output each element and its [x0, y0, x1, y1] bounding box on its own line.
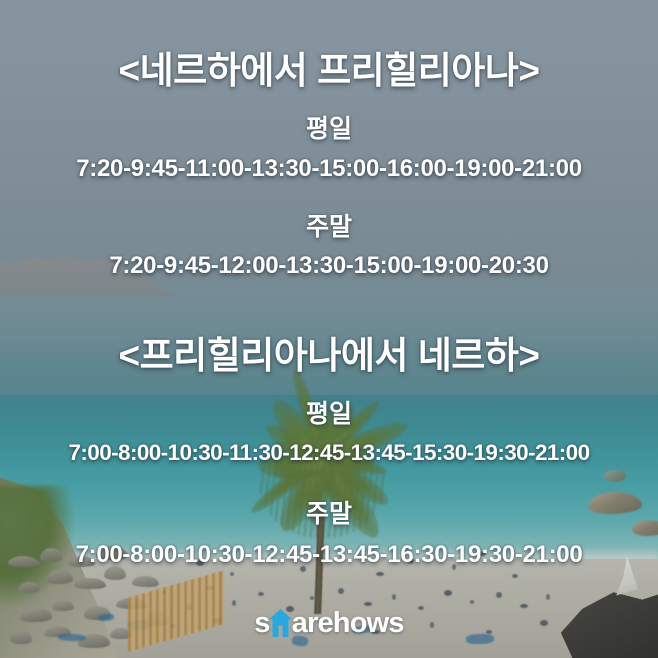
day-label-weekend-2: 주말	[0, 494, 658, 530]
sharehows-logo: s arehows	[0, 608, 658, 638]
day-label-weekday-1: 평일	[0, 109, 658, 145]
times-weekend-1: 7:20-9:45-12:00-13:30-15:00-19:00-20:30	[0, 252, 658, 280]
times-weekday-1: 7:20-9:45-11:00-13:30-15:00-16:00-19:00-…	[0, 155, 658, 183]
day-label-weekend-1: 주말	[0, 207, 658, 243]
times-weekend-2: 7:00-8:00-10:30-12:45-13:45-16:30-19:30-…	[0, 541, 658, 569]
infographic-image: <네르하에서 프리힐리아나> 평일 7:20-9:45-11:00-13:30-…	[0, 0, 658, 658]
times-weekday-2: 7:00-8:00-10:30-11:30-12:45-13:45-15:30-…	[0, 440, 658, 466]
section-heading-frigiliana-to-nerja: <프리힐리아나에서 네르하>	[0, 325, 658, 379]
house-icon	[268, 608, 293, 638]
text-overlay: <네르하에서 프리힐리아나> 평일 7:20-9:45-11:00-13:30-…	[0, 0, 658, 658]
section-heading-nerja-to-frigiliana: <네르하에서 프리힐리아나>	[0, 40, 658, 94]
day-label-weekday-2: 평일	[0, 394, 658, 430]
logo-text-after: arehows	[292, 609, 404, 638]
